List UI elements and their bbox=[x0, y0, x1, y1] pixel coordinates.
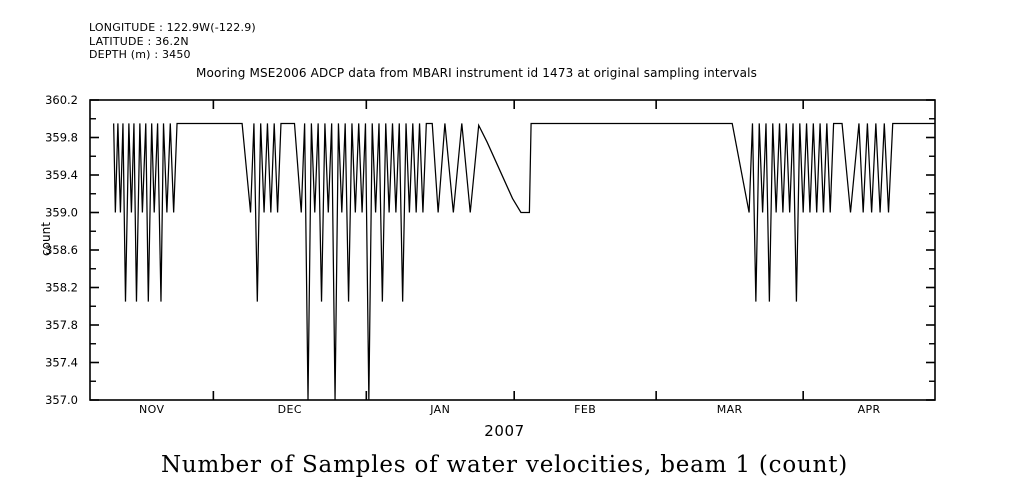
y-tick-label: 357.0 bbox=[45, 393, 78, 407]
x-tick-label: JAN bbox=[429, 403, 450, 416]
y-axis-ticks bbox=[90, 100, 935, 400]
x-axis-tick-labels: NOVDECJANFEBMARAPR bbox=[139, 403, 881, 416]
figure-caption: Number of Samples of water velocities, b… bbox=[0, 452, 1009, 478]
y-tick-label: 357.4 bbox=[45, 356, 78, 370]
y-tick-label: 359.0 bbox=[45, 206, 78, 220]
axes-group: 360.2359.8359.4359.0358.6358.2357.8357.4… bbox=[45, 93, 935, 416]
y-tick-label: 360.2 bbox=[45, 93, 78, 107]
x-tick-label: MAR bbox=[717, 403, 743, 416]
data-series-group bbox=[114, 123, 935, 400]
x-tick-label: DEC bbox=[278, 403, 302, 416]
y-tick-label: 359.4 bbox=[45, 168, 78, 182]
y-axis-tick-labels: 360.2359.8359.4359.0358.6358.2357.8357.4… bbox=[45, 93, 78, 407]
y-tick-label: 357.8 bbox=[45, 318, 78, 332]
x-axis-ticks bbox=[213, 100, 803, 400]
x-tick-label: APR bbox=[858, 403, 881, 416]
chart-page: LONGITUDE : 122.9W(-122.9) LATITUDE : 36… bbox=[0, 0, 1009, 504]
x-tick-label: FEB bbox=[574, 403, 596, 416]
y-tick-label: 359.8 bbox=[45, 131, 78, 145]
x-tick-label: NOV bbox=[139, 403, 164, 416]
data-series-line bbox=[114, 123, 935, 400]
y-tick-label: 358.2 bbox=[45, 281, 78, 295]
x-axis-label: 2007 bbox=[0, 422, 1009, 440]
plot-frame bbox=[90, 100, 935, 400]
y-tick-label: 358.6 bbox=[45, 243, 78, 257]
